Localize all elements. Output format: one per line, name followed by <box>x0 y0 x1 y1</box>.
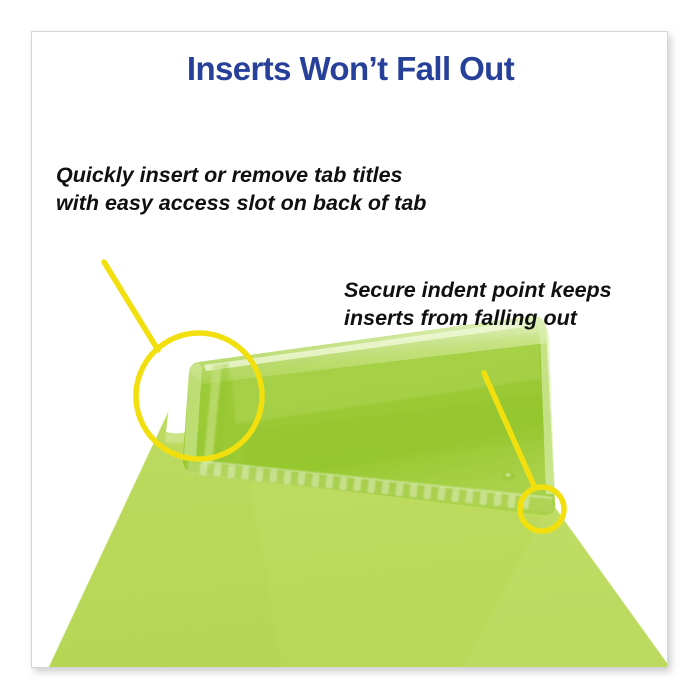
annotation-label-secure-indent-point: Secure indent point keeps inserts from f… <box>344 276 612 332</box>
annotation-line-2: inserts from falling out <box>344 304 612 332</box>
annotation-line-2: with easy access slot on back of tab <box>56 189 426 217</box>
page-title: Inserts Won’t Fall Out <box>32 50 668 88</box>
indent-point-dimple <box>503 472 515 480</box>
annotation-line-1: Quickly insert or remove tab titles <box>56 161 426 189</box>
annotation-label-easy-access-slot: Quickly insert or remove tab titles with… <box>56 161 426 217</box>
product-photo <box>32 32 668 668</box>
screenshot-stage: Inserts Won’t Fall Out Quickly insert or… <box>0 0 700 700</box>
product-info-card: Inserts Won’t Fall Out Quickly insert or… <box>31 31 668 668</box>
annotation-line-1: Secure indent point keeps <box>344 276 612 304</box>
